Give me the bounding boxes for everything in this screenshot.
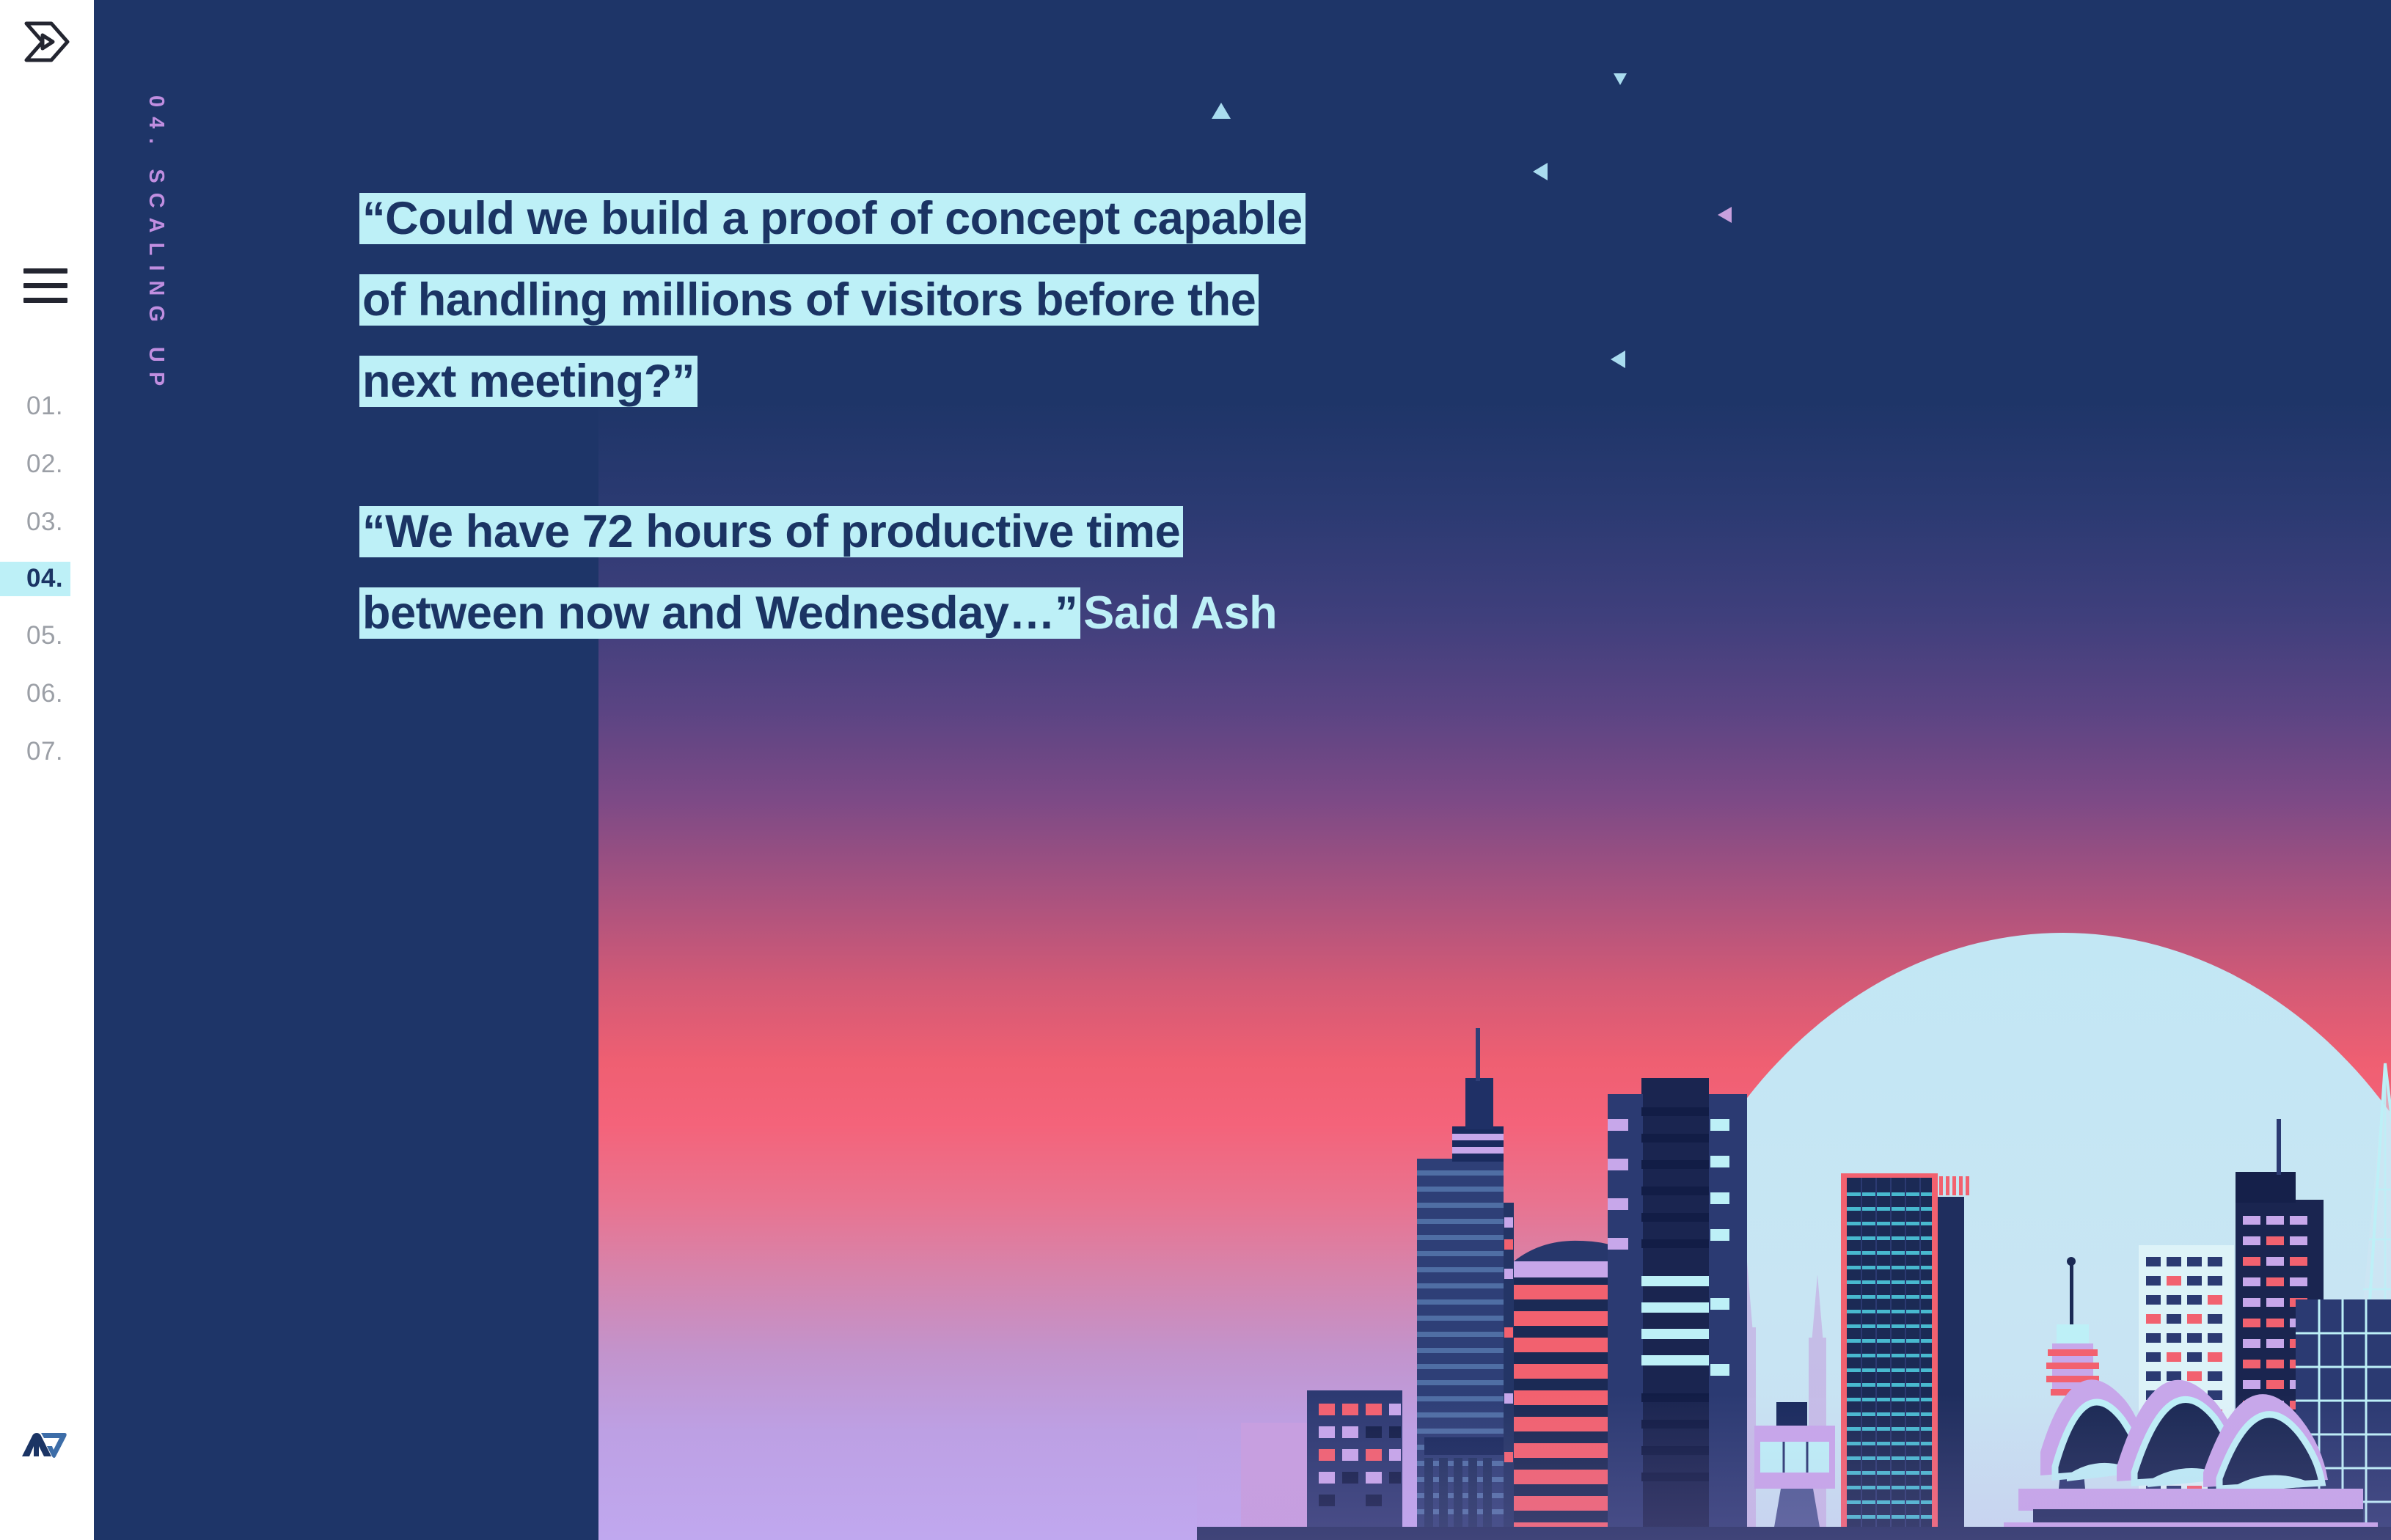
quote-text: “Could we build a proof of concept capab… bbox=[359, 193, 1306, 244]
company-chevron-logo[interactable] bbox=[19, 1430, 67, 1459]
quote-line: “We have 72 hours of productive time bbox=[359, 496, 1826, 568]
quote-spacer bbox=[359, 417, 1826, 496]
hamburger-bar bbox=[23, 283, 67, 288]
quote-attribution: Said Ash bbox=[1080, 587, 1280, 639]
quote-one: “Could we build a proof of concept capab… bbox=[359, 183, 1826, 417]
triangle-left-cyan-1 bbox=[1533, 163, 1548, 180]
hamburger-bar bbox=[23, 298, 67, 303]
sidebar-item-06[interactable]: 06. bbox=[0, 676, 94, 712]
hamburger-menu-icon[interactable] bbox=[23, 268, 67, 302]
sidebar-item-05[interactable]: 05. bbox=[0, 618, 94, 654]
sidebar-item-03[interactable]: 03. bbox=[0, 505, 94, 540]
sidebar-item-01[interactable]: 01. bbox=[0, 389, 94, 425]
quote-text: “We have 72 hours of productive time bbox=[359, 506, 1183, 557]
sidebar-item-07[interactable]: 07. bbox=[0, 734, 94, 770]
city-skyline-illustration bbox=[1197, 983, 2391, 1540]
quote-line: “Could we build a proof of concept capab… bbox=[359, 183, 1826, 254]
quote-text: of handling millions of visitors before … bbox=[359, 274, 1259, 326]
triangle-up-cyan bbox=[1212, 103, 1231, 119]
quote-text: between now and Wednesday…” bbox=[359, 587, 1080, 639]
quote-line: between now and Wednesday…”Said Ash bbox=[359, 578, 1826, 649]
quote-line: next meeting?” bbox=[359, 346, 1826, 417]
sidebar-item-02[interactable]: 02. bbox=[0, 447, 94, 483]
quote-line: of handling millions of visitors before … bbox=[359, 265, 1826, 336]
quote-two: “We have 72 hours of productive time bet… bbox=[359, 496, 1826, 649]
quote-block: “Could we build a proof of concept capab… bbox=[359, 183, 1826, 649]
quote-text: next meeting?” bbox=[359, 356, 697, 407]
brand-arrow-logo[interactable] bbox=[22, 19, 70, 65]
section-nav: 01. 02. 03. 04. 05. 06. 07. bbox=[0, 389, 94, 791]
triangle-down-cyan bbox=[1614, 73, 1627, 85]
slide-canvas: “Could we build a proof of concept capab… bbox=[0, 0, 2391, 1540]
section-vertical-label: 04. SCALING UP bbox=[144, 95, 168, 395]
hamburger-bar bbox=[23, 268, 67, 274]
sidebar-item-04[interactable]: 04. bbox=[0, 562, 70, 596]
left-sidebar: 01. 02. 03. 04. 05. 06. 07. bbox=[0, 0, 94, 1540]
